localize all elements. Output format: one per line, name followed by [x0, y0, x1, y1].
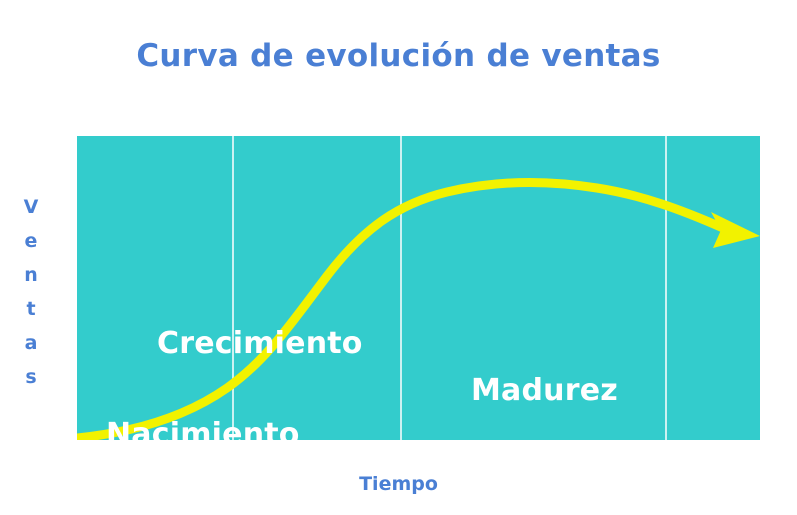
stage-label-crecimiento: Crecimiento: [157, 326, 363, 361]
sales-curve: [77, 136, 760, 440]
y-axis-label-letter: a: [14, 326, 48, 360]
stage-label-madurez: Madurez: [471, 373, 618, 408]
plot-area: Crecimiento Nacimiento Madurez Declive: [77, 136, 760, 440]
y-axis-label-letter: t: [14, 292, 48, 326]
sales-curve-arrowhead: [711, 212, 760, 248]
y-axis-label-letter: s: [14, 360, 48, 394]
stage-divider-1: [232, 136, 234, 440]
stage-label-nacimiento: Nacimiento: [106, 417, 300, 440]
y-axis-label: V e n t a s: [14, 190, 48, 394]
page-title: Curva de evolución de ventas: [0, 38, 797, 74]
stage-divider-3: [665, 136, 667, 440]
sales-evolution-curve-figure: Curva de evolución de ventas V e n t a s…: [0, 0, 797, 515]
y-axis-label-letter: n: [14, 258, 48, 292]
y-axis-label-letter: V: [14, 190, 48, 224]
y-axis-label-letter: e: [14, 224, 48, 258]
x-axis-label: Tiempo: [0, 473, 797, 495]
stage-divider-2: [400, 136, 402, 440]
